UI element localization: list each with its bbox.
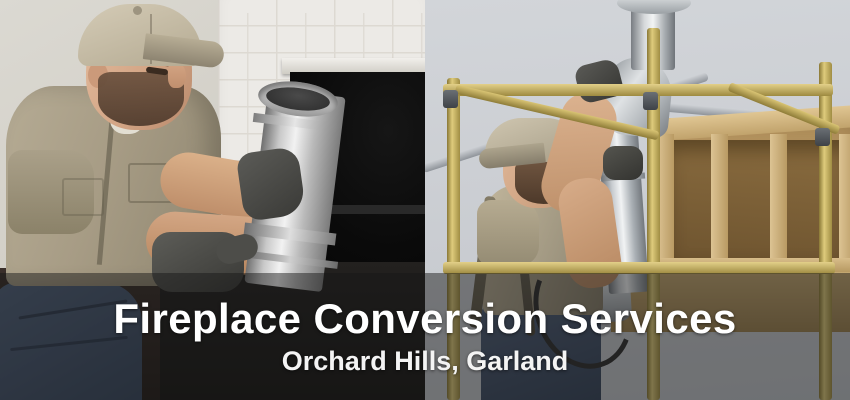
worker-glove-lower	[603, 146, 643, 180]
page-title: Fireplace Conversion Services	[113, 297, 736, 341]
worker-sleeve	[477, 200, 539, 266]
location-subtitle: Orchard Hills, Garland	[282, 347, 569, 377]
scaffold-clamp	[443, 90, 458, 108]
chase-stud	[839, 134, 850, 266]
chase-stud	[770, 134, 787, 266]
chase-stud	[711, 134, 728, 266]
cap-button	[133, 6, 142, 15]
scaffold-clamp	[643, 92, 658, 110]
service-banner: Fireplace Conversion Services Orchard Hi…	[0, 0, 850, 400]
shirt-pocket	[62, 178, 104, 216]
scaffold-clamp	[815, 128, 830, 146]
caption-block: Fireplace Conversion Services Orchard Hi…	[0, 273, 850, 400]
